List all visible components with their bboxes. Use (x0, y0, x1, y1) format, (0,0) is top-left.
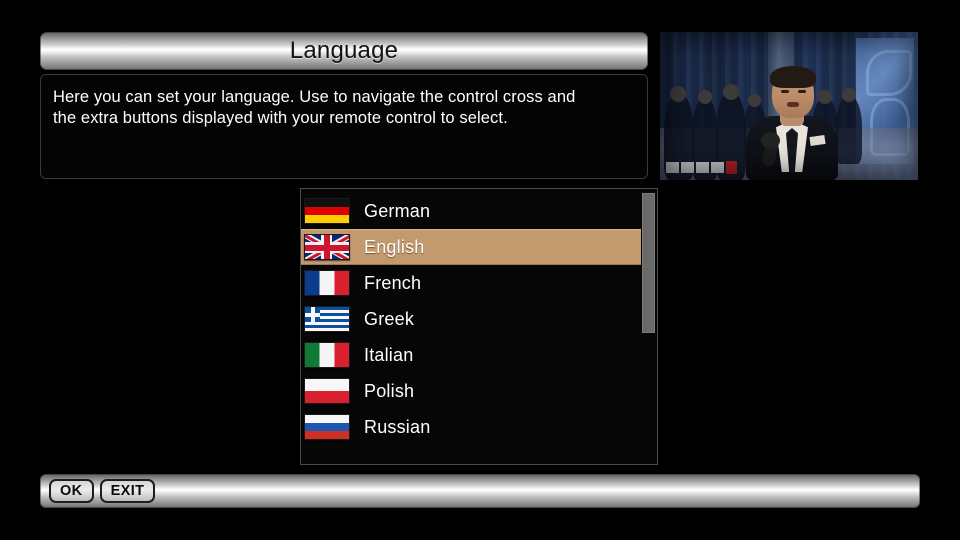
flag-italy-icon (304, 342, 350, 368)
list-item-label: English (364, 237, 424, 258)
flag-russia-icon (304, 414, 350, 440)
list-scrollbar-thumb[interactable] (642, 193, 655, 333)
list-item-label: Russian (364, 417, 430, 438)
video-vignette (660, 32, 918, 180)
video-preview[interactable] (660, 32, 918, 180)
list-item-label: German (364, 201, 430, 222)
title-bar: Language (40, 32, 648, 70)
tv-settings-screen: Language Here you can set your language.… (0, 0, 960, 540)
list-item-label: French (364, 273, 421, 294)
help-text: Here you can set your language. Use to n… (53, 87, 633, 129)
flag-germany-icon (304, 198, 350, 224)
language-list-panel: German English French (300, 188, 658, 465)
flag-greece-icon (304, 306, 350, 332)
list-item-french[interactable]: French (301, 265, 641, 301)
page-title: Language (290, 37, 398, 65)
list-item-label: Italian (364, 345, 413, 366)
list-scrollbar-track[interactable] (642, 191, 655, 462)
list-item-italian[interactable]: Italian (301, 337, 641, 373)
ok-button[interactable]: OK (49, 479, 94, 503)
list-item-english[interactable]: English (301, 229, 641, 265)
list-item-german[interactable]: German (301, 193, 641, 229)
help-panel: Here you can set your language. Use to n… (40, 74, 648, 179)
exit-button[interactable]: EXIT (100, 479, 156, 503)
list-item-label: Greek (364, 309, 414, 330)
flag-united-kingdom-icon (304, 234, 350, 260)
flag-poland-icon (304, 378, 350, 404)
language-list: German English French (301, 189, 641, 445)
list-item-label: Polish (364, 381, 414, 402)
list-item-greek[interactable]: Greek (301, 301, 641, 337)
list-item-russian[interactable]: Russian (301, 409, 641, 445)
flag-france-icon (304, 270, 350, 296)
bottom-button-bar: OK EXIT (40, 474, 920, 508)
list-item-polish[interactable]: Polish (301, 373, 641, 409)
